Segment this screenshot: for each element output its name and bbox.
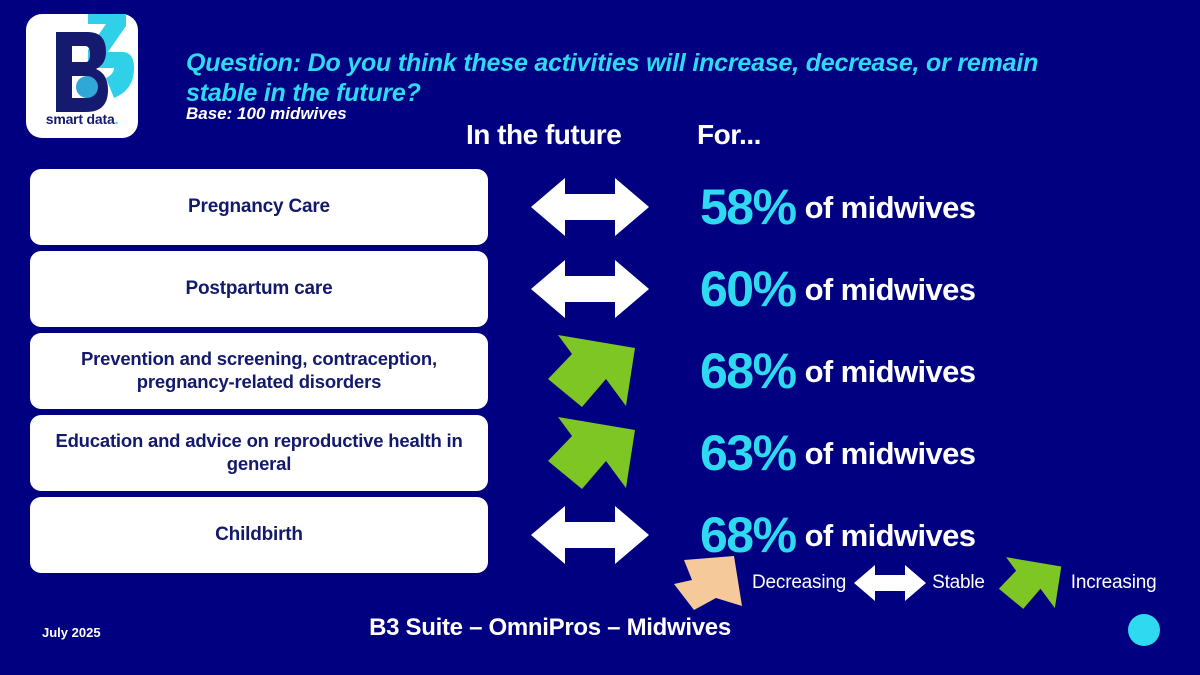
table-row: Education and advice on reproductive hea… <box>0 415 1200 491</box>
base-text: Base: 100 midwives <box>186 104 347 124</box>
percent-value: 58% <box>700 182 796 232</box>
b3-smart-data-logo: smart data. <box>26 14 138 138</box>
increasing-up-arrow-icon <box>540 332 640 410</box>
activity-label-box[interactable]: Childbirth <box>30 497 488 573</box>
stable-double-arrow-icon <box>854 563 926 603</box>
activity-label-box[interactable]: Education and advice on reproductive hea… <box>30 415 488 491</box>
legend-label-decreasing: Decreasing <box>752 572 846 594</box>
table-row: Postpartum care 60% of midwives <box>0 251 1200 327</box>
decreasing-down-arrow-icon <box>672 554 746 612</box>
activity-label: Postpartum care <box>186 277 333 300</box>
activity-label-box[interactable]: Pregnancy Care <box>30 169 488 245</box>
stable-double-arrow-icon <box>531 258 649 320</box>
logo-wordmark: smart data. <box>26 111 138 127</box>
percent-value: 63% <box>700 428 796 478</box>
percent-cell: 63% of midwives <box>700 415 975 491</box>
activity-label-box[interactable]: Prevention and screening, contraception,… <box>30 333 488 409</box>
activity-label: Prevention and screening, contraception,… <box>40 348 478 393</box>
activity-label: Pregnancy Care <box>188 195 330 218</box>
corner-accent-dot-icon <box>1128 614 1160 646</box>
activity-label: Education and advice on reproductive hea… <box>40 430 478 475</box>
percent-suffix: of midwives <box>805 438 976 469</box>
percent-suffix: of midwives <box>805 520 976 551</box>
trend-arrow-cell <box>500 333 680 409</box>
percent-cell: 60% of midwives <box>700 251 975 327</box>
legend-label-stable: Stable <box>932 572 985 594</box>
percent-value: 68% <box>700 346 796 396</box>
percent-cell: 58% of midwives <box>700 169 975 245</box>
increasing-up-arrow-icon <box>540 414 640 492</box>
table-row: Prevention and screening, contraception,… <box>0 333 1200 409</box>
activity-label: Childbirth <box>215 523 303 546</box>
percent-value: 60% <box>700 264 796 314</box>
stable-double-arrow-icon <box>531 504 649 566</box>
legend-label-increasing: Increasing <box>1071 572 1157 594</box>
table-row: Pregnancy Care 58% of midwives <box>0 169 1200 245</box>
question-text: Question: Do you think these activities … <box>186 48 1046 109</box>
percent-suffix: of midwives <box>805 274 976 305</box>
trend-arrow-cell <box>500 415 680 491</box>
percent-cell: 68% of midwives <box>700 333 975 409</box>
slide-canvas: smart data. Question: Do you think these… <box>0 0 1200 675</box>
column-header-for: For... <box>697 119 761 151</box>
trend-arrow-cell <box>500 251 680 327</box>
percent-suffix: of midwives <box>805 192 976 223</box>
logo-wordmark-dot: . <box>115 111 119 127</box>
percent-suffix: of midwives <box>805 356 976 387</box>
stable-double-arrow-icon <box>531 176 649 238</box>
activity-label-box[interactable]: Postpartum care <box>30 251 488 327</box>
column-header-in-the-future: In the future <box>466 119 621 151</box>
trend-arrow-cell <box>500 169 680 245</box>
trend-legend: Decreasing Stable Increasing <box>672 552 1164 614</box>
logo-wordmark-text: smart data <box>46 111 115 127</box>
trend-arrow-cell <box>500 497 680 573</box>
footer-title: B3 Suite – OmniPros – Midwives <box>0 614 1100 642</box>
increasing-up-arrow-icon <box>993 555 1065 611</box>
